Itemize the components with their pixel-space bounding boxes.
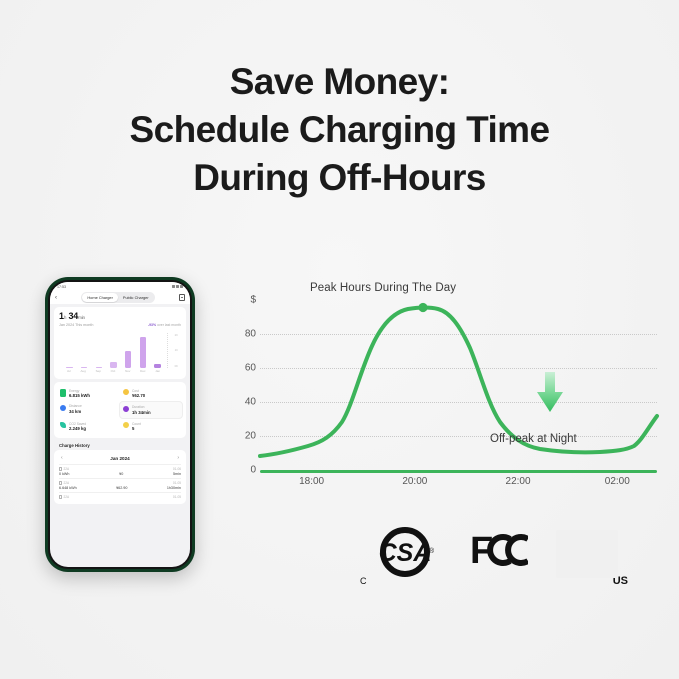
bar-y-label: 0h [166, 364, 178, 368]
stat-text: Cost ¥62.70 [132, 389, 145, 399]
history-row[interactable]: 22A 01-05 [59, 492, 181, 502]
history-energy: 0 kWh [59, 472, 69, 476]
off-peak-label: Off-peak at Night [490, 433, 577, 445]
price-curve-path [260, 308, 657, 457]
bar-x-label: Jan [155, 369, 160, 375]
stat-text: Distance 34 km [69, 404, 82, 414]
page-title: Save Money: Schedule Charging Time Durin… [0, 58, 679, 202]
stat-value: 2.249 kg [69, 426, 86, 431]
clock-icon [123, 406, 129, 412]
down-arrow-icon [537, 372, 563, 412]
charge-history-card: ‹ Jan 2024 › 22A 01-06 0 kWh ¥0 5min [54, 450, 186, 504]
bar-item [66, 367, 73, 368]
stat-label: Count [132, 422, 141, 426]
status-bar: 17:53 [50, 282, 190, 291]
bar-x-label: Jul [67, 369, 71, 375]
history-row[interactable]: 22A 01-05 6.648 kWh ¥62.90 1h30min [59, 478, 181, 492]
summary-delta: -93% over last month [148, 323, 181, 327]
phone-mockup: 17:53 ‹ Home Charger Public Charger [45, 277, 195, 572]
bar-y-label: 1h [166, 348, 178, 352]
history-plug: 22A [59, 495, 69, 499]
battery-icon [180, 285, 183, 288]
stat-label: Duration [132, 405, 151, 409]
plug-icon [59, 495, 62, 499]
stat-distance[interactable]: Distance 34 km [57, 401, 119, 419]
csa-logo: CSA ® [372, 527, 434, 583]
y-tick: 40 [245, 397, 256, 408]
history-row-meta: 22A 01-05 [59, 495, 181, 499]
blank-logo [556, 530, 618, 578]
y-tick: 20 [245, 431, 256, 442]
history-row-meta: 22A 01-06 [59, 467, 181, 471]
history-row[interactable]: 22A 01-06 0 kWh ¥0 5min [59, 464, 181, 478]
history-date: 01-06 [173, 467, 181, 471]
tab-public-charger[interactable]: Public Charger [118, 293, 154, 301]
y-tick: 0 [250, 465, 256, 476]
bar-x-label: Oct [111, 369, 116, 375]
x-tick: 18:00 [299, 476, 324, 487]
monthly-bar-chart: 2h 1h 0h [59, 331, 181, 375]
bar-chart-x-labels: Jul Aug Sep Oct Nov Dec Jan [62, 369, 165, 375]
leaf-icon [60, 422, 66, 428]
history-duration: 1h30min [167, 486, 181, 490]
stat-label: Cost [132, 389, 145, 393]
stat-text: Energy 6.815 kWh [69, 389, 90, 399]
stat-co2-saved[interactable]: CO2 Saved 2.249 kg [57, 419, 120, 435]
peak-hours-chart: Peak Hours During The Day $ 80 60 40 20 … [232, 282, 657, 497]
summary-delta-note: over last month [157, 323, 181, 327]
bar-x-label: Nov [125, 369, 130, 375]
stat-count[interactable]: Count 5 [120, 419, 183, 435]
page-root: Save Money: Schedule Charging Time Durin… [0, 0, 679, 679]
stats-grid: Energy 6.815 kWh Cost ¥62.70 [54, 382, 186, 439]
summary-period: Jan 2024 This month [59, 323, 93, 327]
document-icon[interactable] [179, 294, 185, 301]
stat-value: 5 [132, 426, 141, 431]
summary-card: 1h 34min Jan 2024 This month -93% over l… [54, 307, 186, 379]
csa-c-mark: C [360, 576, 367, 586]
wifi-icon [176, 285, 179, 288]
history-duration: 5min [173, 472, 181, 476]
bar-item [81, 367, 88, 368]
stat-value: 34 km [69, 409, 82, 414]
chart-title: Peak Hours During The Day [310, 282, 456, 294]
x-tick: 02:00 [605, 476, 630, 487]
svg-text:®: ® [429, 547, 434, 555]
location-icon [60, 405, 66, 411]
stat-duration[interactable]: Duration 1h 34min [119, 401, 183, 419]
duration-summary: 1h 34min [59, 311, 181, 321]
history-cost: ¥62.90 [116, 486, 127, 490]
status-bar-icons [172, 285, 183, 288]
bar-x-label: Aug [80, 369, 85, 375]
summary-subrow: Jan 2024 This month -93% over last month [59, 323, 181, 327]
chart-x-axis: 18:00 20:00 22:00 02:00 [260, 476, 657, 490]
history-plug-label: 22A [64, 467, 70, 471]
certification-logos: CSA ® C US F [360, 525, 630, 587]
chart-plot-area [260, 300, 657, 470]
duration-minutes: 34 [68, 311, 78, 321]
x-tick: 20:00 [402, 476, 427, 487]
tab-home-charger[interactable]: Home Charger [82, 293, 118, 301]
stat-value: 6.815 kWh [69, 393, 90, 398]
bar-x-label: Dec [140, 369, 145, 375]
bar-item [96, 367, 103, 368]
headline-line-3: During Off-Hours [0, 154, 679, 202]
history-plug: 22A [59, 481, 69, 485]
stat-label: CO2 Saved [69, 422, 86, 426]
stat-label: Distance [69, 404, 82, 408]
bar-item [140, 337, 147, 368]
month-selector: ‹ Jan 2024 › [59, 453, 181, 464]
bar-x-label: Sep [96, 369, 101, 375]
plug-icon [59, 481, 62, 485]
month-label: Jan 2024 [110, 456, 129, 461]
stats-row: Energy 6.815 kWh Cost ¥62.70 [57, 386, 183, 402]
phone-bezel: 17:53 ‹ Home Charger Public Charger [48, 280, 192, 569]
chart-y-axis: $ 80 60 40 20 0 [232, 300, 256, 470]
stat-cost[interactable]: Cost ¥62.70 [120, 386, 183, 402]
chevron-right-icon[interactable]: › [177, 455, 179, 461]
stat-text: Duration 1h 34min [132, 405, 151, 415]
app-navbar: ‹ Home Charger Public Charger [50, 291, 190, 304]
duration-minutes-unit: min [78, 315, 85, 320]
status-bar-time: 17:53 [57, 285, 66, 289]
stats-row: CO2 Saved 2.249 kg Count 5 [57, 419, 183, 435]
signal-icon [172, 285, 175, 288]
stat-text: CO2 Saved 2.249 kg [69, 422, 86, 432]
history-row-values: 6.648 kWh ¥62.90 1h30min [59, 486, 181, 490]
bar-chart-y-labels: 2h 1h 0h [166, 333, 178, 368]
y-tick: 60 [245, 363, 256, 374]
chart-baseline [260, 470, 657, 473]
phone-screen: 17:53 ‹ Home Charger Public Charger [50, 282, 190, 567]
stat-text: Count 5 [132, 422, 141, 432]
headline-line-2: Schedule Charging Time [0, 106, 679, 154]
bar-item [125, 351, 132, 368]
bar-item [110, 362, 117, 368]
counter-icon [123, 422, 129, 428]
stats-row: Distance 34 km Duration 1h 34min [57, 401, 183, 419]
coin-icon [123, 389, 129, 395]
x-tick: 22:00 [506, 476, 531, 487]
history-row-meta: 22A 01-05 [59, 481, 181, 485]
plug-icon [59, 467, 62, 471]
stat-value: 1h 34min [132, 410, 151, 415]
y-tick: 80 [245, 329, 256, 340]
history-date: 01-05 [173, 495, 181, 499]
bar-item [154, 364, 161, 368]
charge-history-title: Charge History [59, 443, 190, 448]
history-date: 01-05 [173, 481, 181, 485]
chevron-left-icon[interactable]: ‹ [61, 455, 63, 461]
headline-line-1: Save Money: [0, 58, 679, 106]
bar-y-label: 2h [166, 333, 178, 337]
history-plug-label: 22A [64, 495, 70, 499]
history-cost: ¥0 [119, 472, 123, 476]
bar-chart-bars [62, 331, 165, 368]
history-energy: 6.648 kWh [59, 486, 77, 490]
history-row-values: 0 kWh ¥0 5min [59, 472, 181, 476]
charger-tabs[interactable]: Home Charger Public Charger [81, 292, 154, 302]
battery-icon [60, 389, 66, 397]
duration-hours-unit: h [64, 315, 66, 320]
price-curve-svg [260, 300, 657, 470]
history-plug: 22A [59, 467, 69, 471]
stat-value: ¥62.70 [132, 393, 145, 398]
chevron-left-icon[interactable]: ‹ [55, 295, 57, 301]
summary-delta-value: -93% [148, 323, 156, 327]
y-tick: $ [250, 295, 256, 306]
stat-label: Energy [69, 389, 90, 393]
stat-energy[interactable]: Energy 6.815 kWh [57, 386, 120, 402]
svg-text:CSA: CSA [379, 539, 432, 567]
fcc-logo: F [470, 533, 528, 567]
peak-marker-dot [418, 303, 427, 312]
history-plug-label: 22A [64, 481, 70, 485]
